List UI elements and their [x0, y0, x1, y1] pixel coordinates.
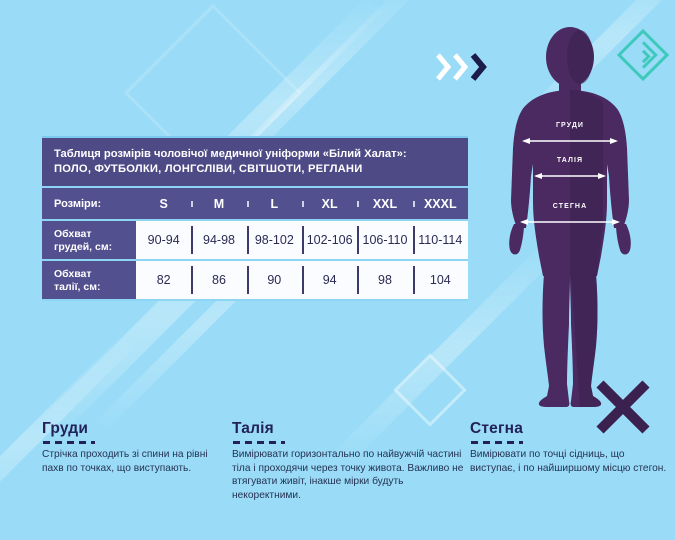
hips-measure-arrow	[518, 213, 622, 221]
cell-waist-l: 90	[247, 261, 302, 299]
row-header-waist-line1: Обхват	[54, 268, 136, 281]
waist-measure-arrow	[532, 167, 608, 175]
chest-measure-arrow	[520, 132, 620, 140]
cell-waist-xxl: 98	[357, 261, 412, 299]
table-bottom-border	[42, 299, 468, 301]
male-body-silhouette: ГРУДИ ТАЛІЯ СТЕГНА	[470, 24, 670, 410]
cell-waist-xxxl: 104	[413, 261, 468, 299]
row-header-chest-line2: грудей, см:	[54, 241, 136, 254]
size-table: Таблиця розмірів чоловічої медичної уніф…	[42, 136, 468, 301]
cell-chest-xl: 102-106	[302, 221, 357, 259]
figure-label-hips: СТЕГНА	[522, 203, 618, 210]
table-header-row: Розміри: S M L XL XXL XXXL	[42, 186, 468, 219]
table-header-size-xl: XL	[302, 197, 357, 211]
cell-chest-m: 94-98	[191, 221, 246, 259]
note-chest-text: Стрічка проходить зі спини на рівні пахв…	[42, 448, 232, 475]
figure-label-waist: ТАЛІЯ	[528, 157, 612, 164]
note-chest-heading: Груди	[42, 420, 232, 438]
row-header-waist-line2: талії, см:	[54, 281, 136, 294]
note-hips: Стегна Вимірювати по точці сідниць, що в…	[470, 420, 670, 475]
table-title-line1: Таблиця розмірів чоловічої медичної уніф…	[54, 147, 456, 162]
note-chest-divider	[43, 441, 95, 444]
note-waist-divider	[233, 441, 285, 444]
note-waist-text: Вимірювати горизонтально по найвужчій ча…	[232, 448, 468, 502]
note-hips-heading: Стегна	[470, 420, 670, 438]
row-header-chest-line1: Обхват	[54, 228, 136, 241]
table-title: Таблиця розмірів чоловічої медичної уніф…	[42, 136, 468, 186]
table-header-size-l: L	[247, 197, 302, 211]
table-header-size-xxl: XXL	[357, 197, 412, 211]
note-hips-text: Вимірювати по точці сідниць, що виступає…	[470, 448, 670, 475]
chevron-right-icon	[436, 52, 452, 82]
table-header-size-xxxl: XXXL	[413, 197, 468, 211]
cell-chest-l: 98-102	[247, 221, 302, 259]
note-hips-divider	[471, 441, 523, 444]
cell-waist-xl: 94	[302, 261, 357, 299]
table-row: Обхват грудей, см: 90-94 94-98 98-102 10…	[42, 219, 468, 259]
cell-chest-s: 90-94	[136, 221, 191, 259]
cell-chest-xxxl: 110-114	[413, 221, 468, 259]
cell-waist-m: 86	[191, 261, 246, 299]
note-waist: Талія Вимірювати горизонтально по найвуж…	[232, 420, 468, 502]
table-header-size-m: M	[191, 197, 246, 211]
table-row: Обхват талії, см: 82 86 90 94 98 104	[42, 259, 468, 299]
row-header-chest: Обхват грудей, см:	[42, 221, 136, 259]
row-header-waist: Обхват талії, см:	[42, 261, 136, 299]
table-header-size-s: S	[136, 197, 191, 211]
note-waist-heading: Талія	[232, 420, 468, 438]
infographic-canvas: ГРУДИ ТАЛІЯ СТЕГНА	[0, 0, 675, 540]
cell-waist-s: 82	[136, 261, 191, 299]
chevron-right-icon	[453, 52, 469, 82]
figure-label-chest: ГРУДИ	[522, 122, 618, 129]
table-title-line2: ПОЛО, ФУТБОЛКИ, ЛОНГСЛІВИ, СВІТШОТИ, РЕГ…	[54, 162, 456, 177]
table-header-sizes-label: Розміри:	[42, 198, 136, 210]
cell-chest-xxl: 106-110	[357, 221, 412, 259]
note-chest: Груди Стрічка проходить зі спини на рівн…	[42, 420, 232, 475]
measurement-notes: Груди Стрічка проходить зі спини на рівн…	[0, 414, 675, 540]
